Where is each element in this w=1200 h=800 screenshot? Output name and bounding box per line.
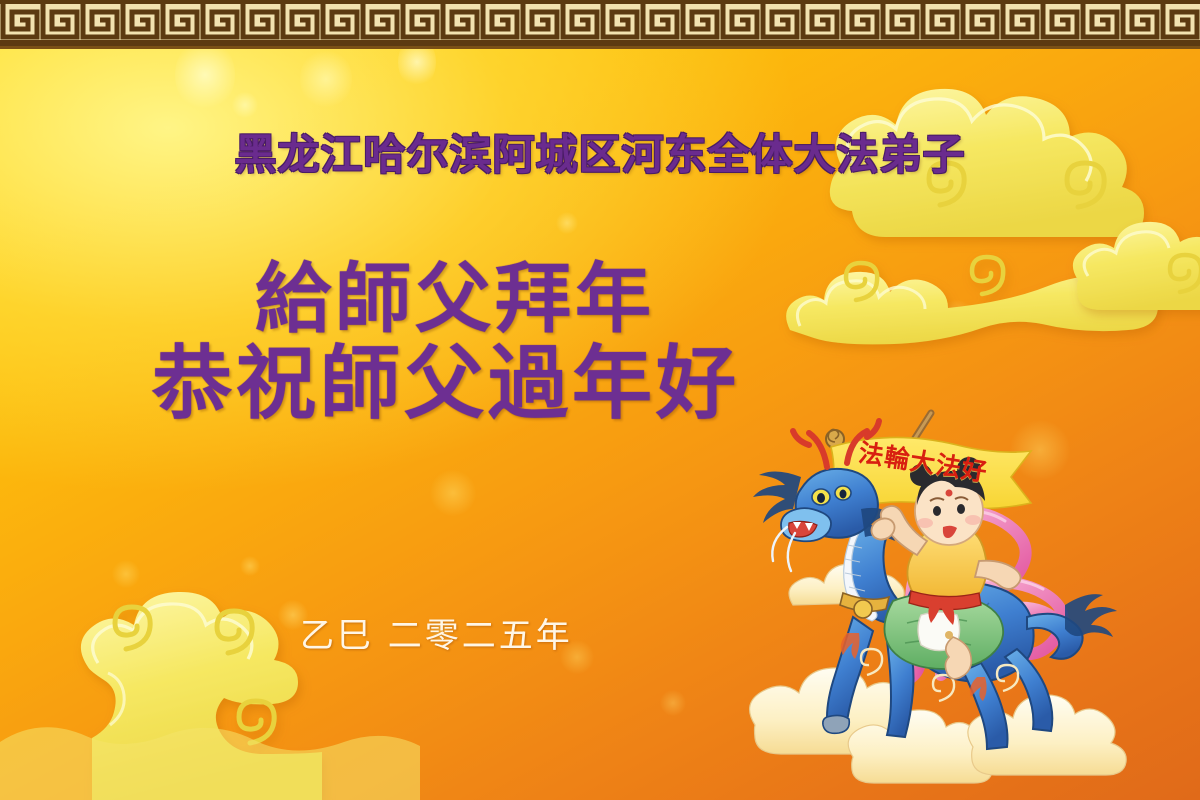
- banner-pole: [826, 413, 931, 535]
- bokeh-light: [1010, 420, 1070, 480]
- child-riding-dragon-illustration: [735, 405, 1135, 795]
- cloud-right-small: [1060, 200, 1200, 330]
- greeting-line-1: 給師父拜年: [96, 258, 796, 340]
- date-line: 乙巳 二零二五年: [300, 608, 573, 657]
- cloud-top-right: [790, 55, 1200, 345]
- bokeh-light: [300, 48, 352, 110]
- meander-pattern: [0, 4, 1200, 40]
- bokeh-light: [975, 470, 1005, 500]
- bokeh-light: [940, 300, 974, 334]
- ribbon-highlights: [914, 512, 1043, 639]
- banner-flag: [825, 437, 1031, 517]
- child-rider: [868, 457, 1021, 679]
- cloud-right-mid: [760, 180, 1200, 420]
- ribbons: [901, 513, 1063, 683]
- sender-line: 黑龙江哈尔滨阿城区河东全体大法弟子: [0, 131, 1200, 179]
- greeting-card: 黑龙江哈尔滨阿城区河东全体大法弟子 給師父拜年 恭祝師父過年好 乙巳 二零二五年: [0, 0, 1200, 800]
- greeting-line-2: 恭祝師父過年好: [96, 340, 796, 428]
- cloud-bottom-edge: [0, 700, 420, 800]
- bokeh-light: [232, 92, 258, 118]
- bokeh-light: [240, 556, 260, 576]
- banner-text: 法輪大法好: [844, 421, 1002, 506]
- dragon: [753, 421, 1117, 749]
- greeting-block: 給師父拜年 恭祝師父過年好: [96, 258, 796, 428]
- top-meander-border: [0, 0, 1200, 49]
- bokeh-light: [175, 38, 235, 112]
- bokeh-light: [430, 470, 476, 516]
- bokeh-light: [660, 690, 686, 716]
- illustration-clouds: [750, 564, 1127, 783]
- bokeh-light: [556, 212, 578, 234]
- bokeh-light: [112, 560, 140, 588]
